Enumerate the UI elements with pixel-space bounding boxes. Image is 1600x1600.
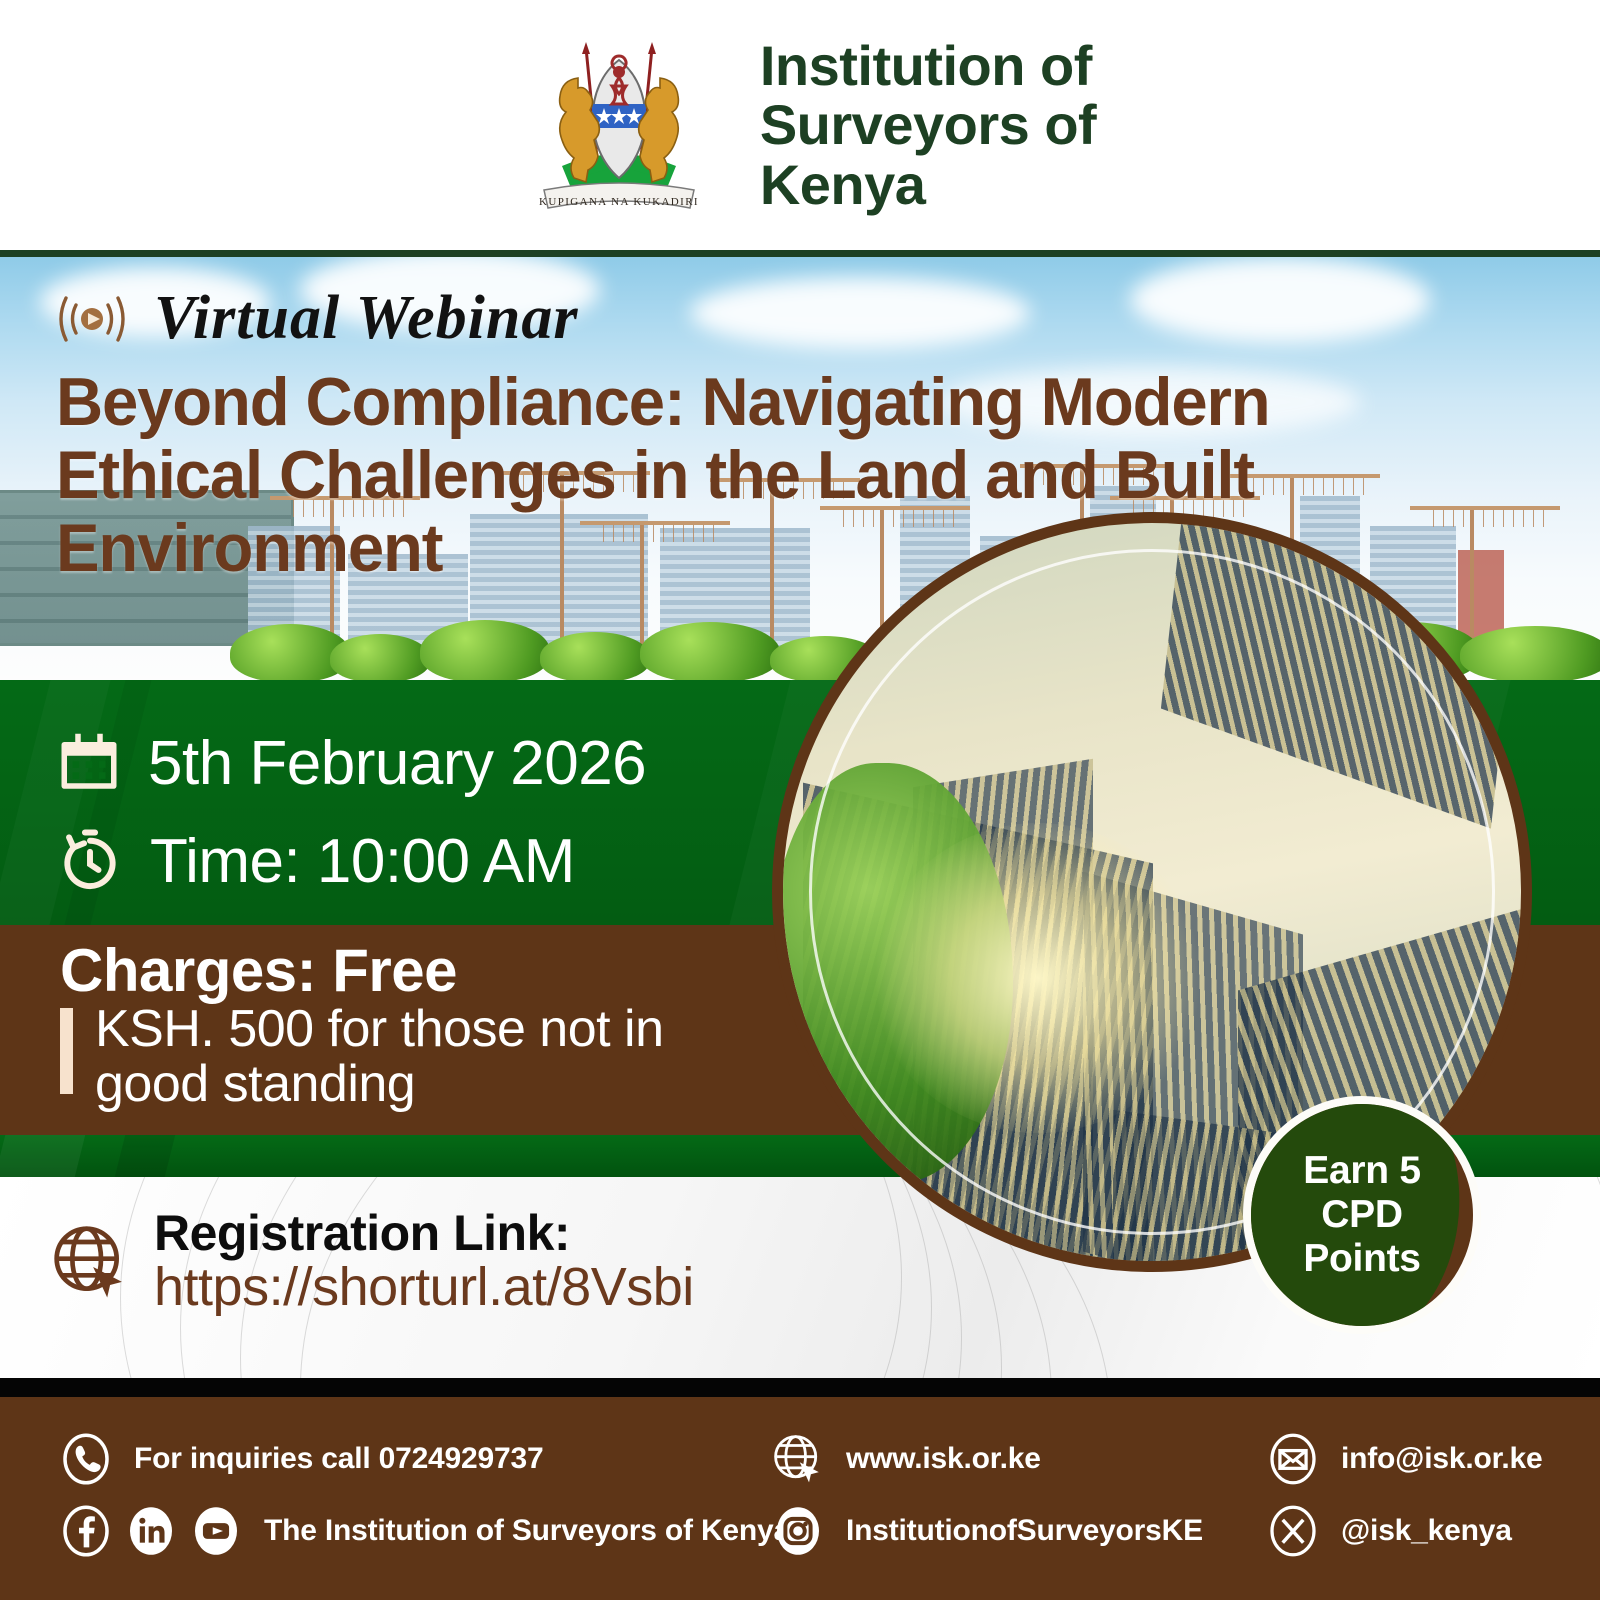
registration-row[interactable]: Registration Link: https://shorturl.at/8… [50, 1208, 694, 1315]
registration-url[interactable]: https://shorturl.at/8Vsbi [154, 1259, 694, 1315]
charges-note-row: KSH. 500 for those not in good standing [60, 1002, 755, 1112]
registration-text: Registration Link: https://shorturl.at/8… [154, 1208, 694, 1315]
footer-col-left: For inquiries call 0724929737 [58, 1423, 790, 1567]
org-name-line1: Institution of [760, 36, 1096, 95]
org-name-line3: Kenya [760, 155, 1096, 214]
footer-phone-row[interactable]: For inquiries call 0724929737 [58, 1423, 790, 1495]
crest-motto: KUPIGANA NA KUKADIRI [539, 196, 699, 208]
footer-social-handle: The Institution of Surveyors of Kenya [264, 1514, 790, 1548]
cpd-line-1: Earn 5 [1303, 1149, 1420, 1193]
footer-website: www.isk.or.ke [846, 1442, 1041, 1476]
footer-social-row[interactable]: The Institution of Surveyors of Kenya [58, 1495, 790, 1567]
instagram-icon[interactable] [770, 1503, 826, 1559]
accent-bar [60, 1008, 73, 1094]
stopwatch-icon [56, 828, 124, 896]
globe-cursor-icon [770, 1431, 826, 1487]
broadcast-waves-icon [52, 288, 132, 350]
footer-x-row[interactable]: @isk_kenya [1265, 1495, 1543, 1567]
footer-email: info@isk.or.ke [1341, 1442, 1543, 1476]
footer-x-handle: @isk_kenya [1341, 1514, 1512, 1548]
social-icon-group [58, 1503, 244, 1559]
eyebrow-row: Virtual Webinar [52, 283, 578, 354]
cpd-line-3: Points [1303, 1237, 1420, 1281]
event-date: 5th February 2026 [148, 728, 646, 799]
registration-label: Registration Link: [154, 1208, 694, 1259]
footer-website-row[interactable]: www.isk.or.ke [770, 1423, 1203, 1495]
kenya-coat-of-arms-icon: KUPIGANA NA KUKADIRI [504, 38, 734, 213]
youtube-icon[interactable] [188, 1503, 244, 1559]
envelope-icon [1265, 1431, 1321, 1487]
linkedin-icon[interactable] [123, 1503, 179, 1559]
footer-col-middle: www.isk.or.ke InstitutionofSurveyorsKE [770, 1423, 1203, 1567]
footer-instagram-row[interactable]: InstitutionofSurveyorsKE [770, 1495, 1203, 1567]
x-twitter-icon[interactable] [1265, 1503, 1321, 1559]
charges-headline: Charges: Free [60, 936, 457, 1005]
footer-email-row[interactable]: info@isk.or.ke [1265, 1423, 1543, 1495]
event-time: Time: 10:00 AM [150, 826, 575, 897]
date-row: 5th February 2026 [56, 728, 646, 799]
cpd-badge-text: Earn 5 CPD Points [1251, 1104, 1473, 1326]
facebook-icon[interactable] [58, 1503, 114, 1559]
footer-phone: For inquiries call 0724929737 [134, 1442, 543, 1476]
charges-note: KSH. 500 for those not in good standing [95, 1002, 755, 1112]
footer-col-right: info@isk.or.ke @isk_kenya [1265, 1423, 1543, 1567]
globe-cursor-icon [50, 1222, 130, 1302]
eyebrow-label: Virtual Webinar [154, 283, 578, 354]
calendar-icon [56, 731, 122, 797]
cpd-badge: Earn 5 CPD Points [1243, 1096, 1481, 1334]
header-divider [0, 250, 1600, 257]
org-name-line2: Surveyors of [760, 95, 1096, 154]
cpd-line-2: CPD [1321, 1193, 1402, 1237]
org-name: Institution of Surveyors of Kenya [760, 36, 1096, 214]
phone-icon [58, 1431, 114, 1487]
time-row: Time: 10:00 AM [56, 826, 575, 897]
webinar-flyer: KUPIGANA NA KUKADIRI Institution of Surv… [0, 0, 1600, 1600]
logo-header: KUPIGANA NA KUKADIRI Institution of Surv… [0, 0, 1600, 250]
footer-instagram: InstitutionofSurveyorsKE [846, 1514, 1203, 1548]
footer-top-rule [0, 1378, 1600, 1397]
footer: For inquiries call 0724929737 [0, 1397, 1600, 1600]
